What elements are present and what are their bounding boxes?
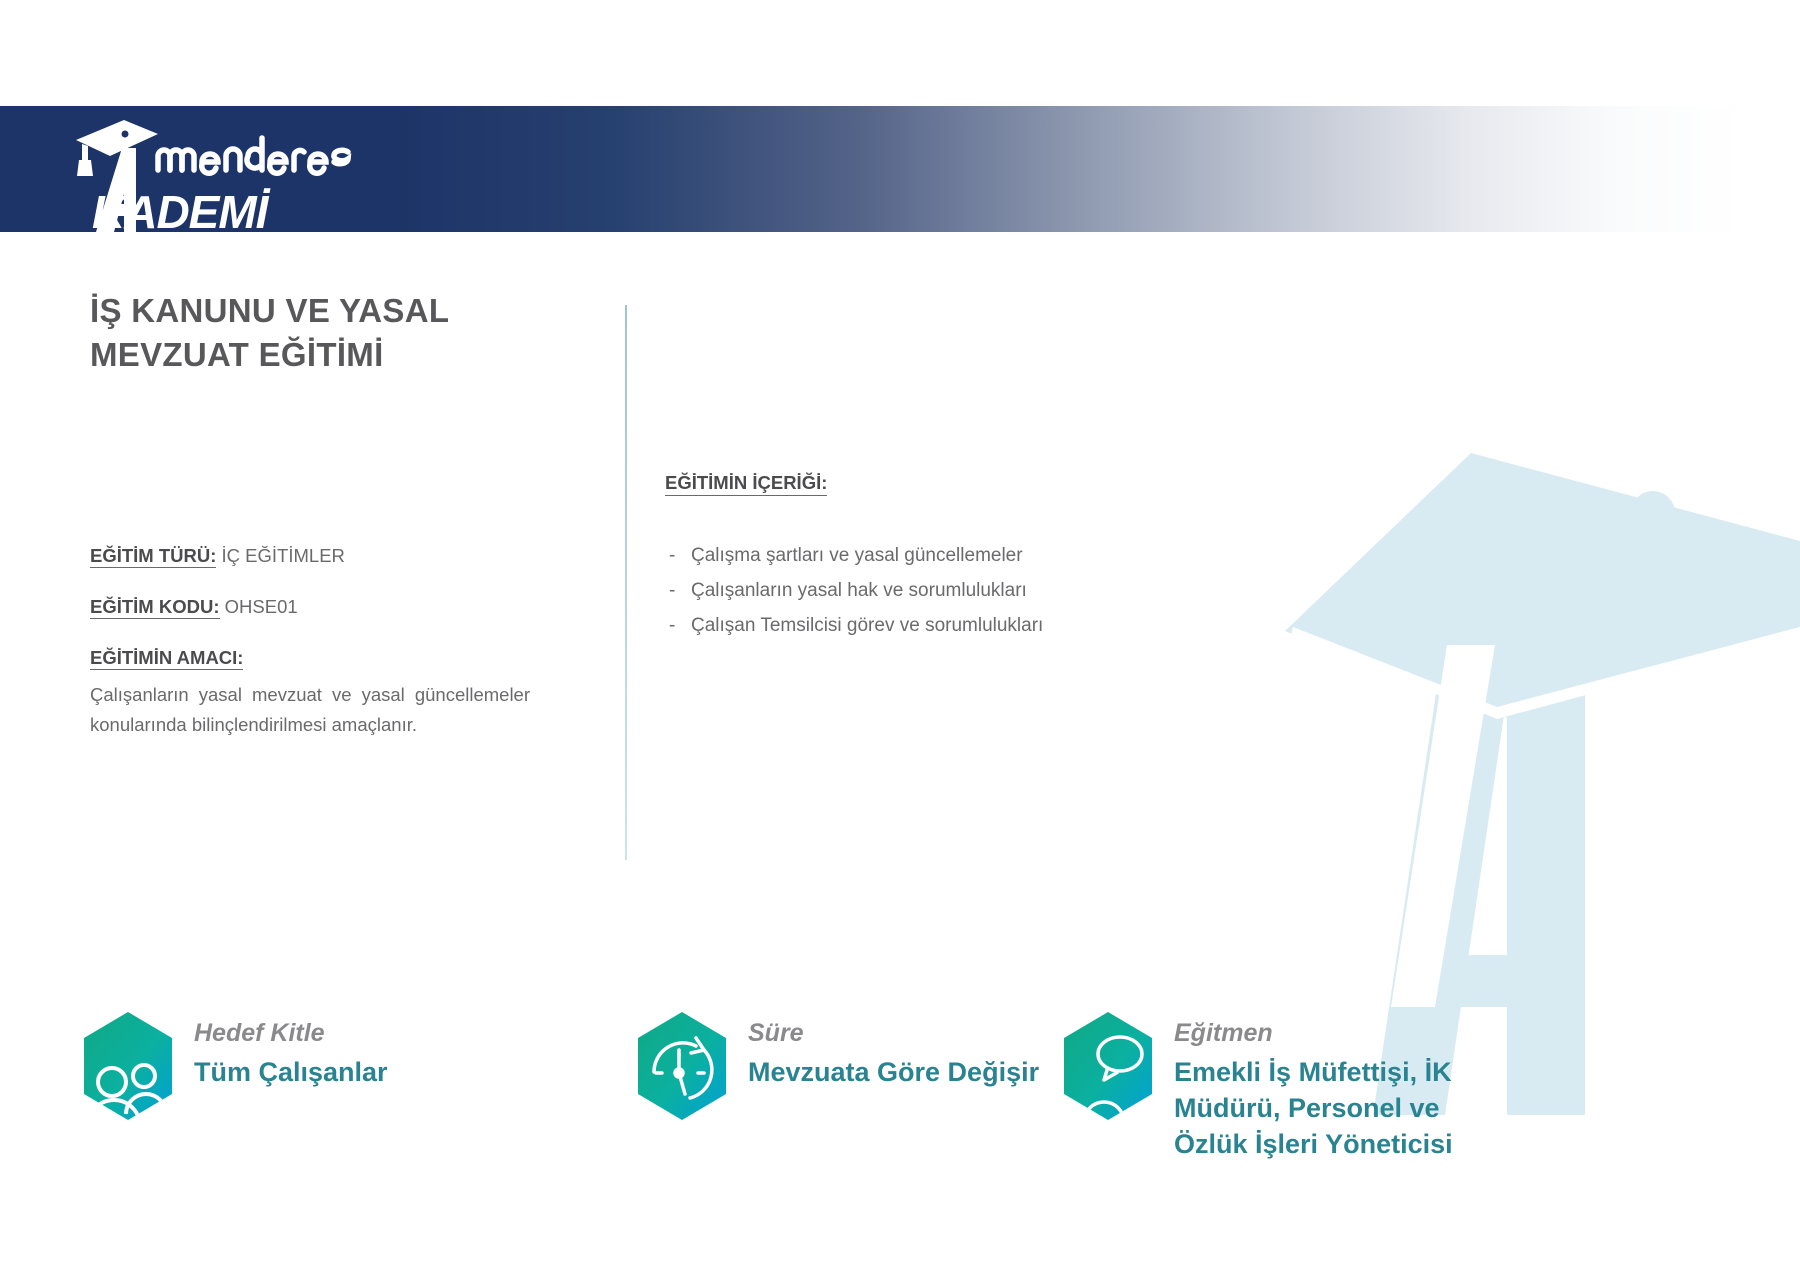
list-item-label: Çalışan Temsilcisi görev ve sorumlulukla… — [691, 615, 1043, 636]
trainer-card: Eğitmen Emekli İş Müfettişi, İK Müdürü, … — [1058, 1010, 1504, 1163]
training-type-row: EĞİTİM TÜRÜ: İÇ EĞİTİMLER — [90, 545, 530, 567]
audience-value: Tüm Çalışanlar — [194, 1055, 388, 1091]
training-aim-label: EĞİTİMİN AMACI: — [90, 647, 243, 670]
list-item: - Çalışma şartları ve yasal güncellemele… — [665, 541, 1305, 572]
bullet-dash-icon: - — [669, 576, 675, 607]
trainer-value: Emekli İş Müfettişi, İK Müdürü, Personel… — [1174, 1055, 1504, 1163]
clock-icon — [632, 1010, 732, 1122]
duration-value: Mevzuata Göre Değişir — [748, 1055, 1039, 1091]
people-icon — [78, 1010, 178, 1122]
course-title-line1: İŞ KANUNU VE YASAL — [90, 289, 560, 333]
course-content-list: - Çalışma şartları ve yasal güncellemele… — [665, 541, 1305, 641]
list-item-label: Çalışanların yasal hak ve sorumlulukları — [691, 580, 1027, 601]
audience-card-text: Hedef Kitle Tüm Çalışanlar — [194, 1018, 388, 1091]
course-content: EĞİTİMİN İÇERİĞİ: - Çalışma şartları ve … — [665, 472, 1305, 645]
duration-card: Süre Mevzuata Göre Değişir — [632, 1010, 1039, 1122]
duration-label: Süre — [748, 1018, 1039, 1048]
audience-label: Hedef Kitle — [194, 1018, 388, 1048]
trainer-card-text: Eğitmen Emekli İş Müfettişi, İK Müdürü, … — [1174, 1018, 1504, 1163]
akademi-logo: KADEMİ — [62, 106, 392, 232]
list-item: - Çalışanların yasal hak ve sorumlulukla… — [665, 576, 1305, 607]
course-title: İŞ KANUNU VE YASAL MEVZUAT EĞİTİMİ — [90, 289, 560, 377]
list-item-label: Çalışma şartları ve yasal güncellemeler — [691, 545, 1023, 566]
menderes-logo — [1335, 226, 1725, 232]
training-card-page: KADEMİ İŞ KANUNU VE YASAL MEVZUAT EĞİTİM… — [0, 0, 1800, 1273]
page-header: KADEMİ — [0, 106, 1800, 232]
training-type-label: EĞİTİM TÜRÜ: — [90, 545, 216, 568]
bullet-dash-icon: - — [669, 541, 675, 572]
duration-card-text: Süre Mevzuata Göre Değişir — [748, 1018, 1039, 1091]
audience-card: Hedef Kitle Tüm Çalışanlar — [78, 1010, 388, 1122]
training-type-value: İÇ EĞİTİMLER — [222, 545, 345, 566]
course-meta: EĞİTİM TÜRÜ: İÇ EĞİTİMLER EĞİTİM KODU: O… — [90, 545, 530, 740]
training-aim-label-row: EĞİTİMİN AMACI: — [90, 647, 530, 669]
list-item: - Çalışan Temsilcisi görev ve sorumluluk… — [665, 611, 1305, 642]
speech-person-icon — [1058, 1010, 1158, 1122]
training-code-value: OHSE01 — [225, 596, 298, 617]
trainer-label: Eğitmen — [1174, 1018, 1504, 1048]
column-divider — [625, 305, 627, 860]
training-code-row: EĞİTİM KODU: OHSE01 — [90, 596, 530, 618]
course-title-line2: MEVZUAT EĞİTİMİ — [90, 333, 560, 377]
course-content-label: EĞİTİMİN İÇERİĞİ: — [665, 472, 827, 496]
training-code-label: EĞİTİM KODU: — [90, 596, 220, 619]
bullet-dash-icon: - — [669, 611, 675, 642]
training-aim-text: Çalışanların yasal mevzuat ve yasal günc… — [90, 680, 530, 740]
svg-text:KADEMİ: KADEMİ — [92, 186, 271, 232]
